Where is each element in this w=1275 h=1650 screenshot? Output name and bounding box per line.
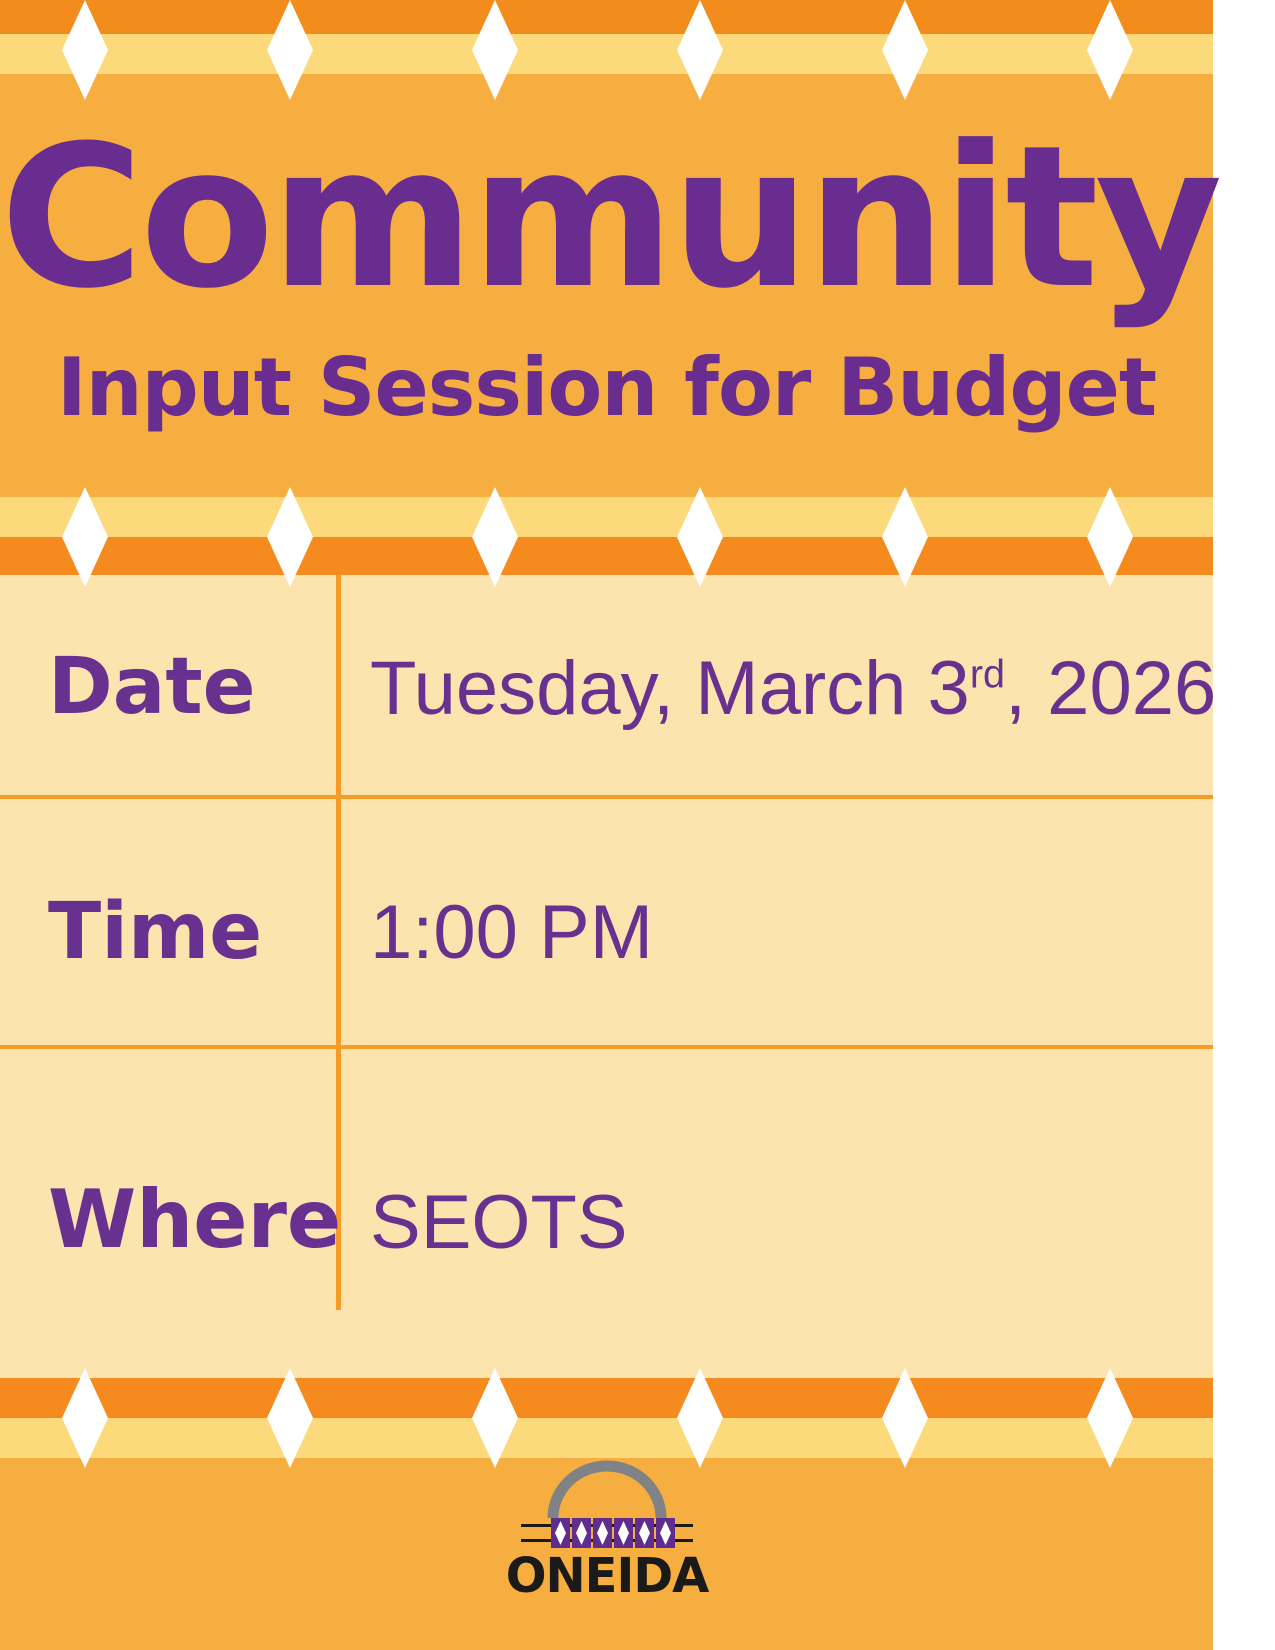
details-panel: Date Tuesday, March 3rd, 2026 Time 1:00 … (0, 575, 1213, 1378)
belt-diamond-icon (593, 1518, 612, 1548)
page-title: Community (0, 122, 1213, 314)
belt-diamond-icon (635, 1518, 654, 1548)
mid-ornament-band (0, 497, 1213, 575)
oneida-wordmark: ONEIDA (497, 1552, 717, 1600)
date-prefix: Tuesday, March 3 (370, 646, 970, 731)
belt-diamond-icon (551, 1518, 570, 1548)
table-row: Time 1:00 PM (0, 795, 1213, 1045)
table-row: Where SEOTS (0, 1045, 1213, 1378)
bottom-stripe-light (0, 1418, 1213, 1458)
top-stripe-light (0, 34, 1213, 74)
date-suffix: , 2026 (1005, 646, 1216, 731)
table-row: Date Tuesday, March 3rd, 2026 (0, 575, 1213, 795)
details-label-where: Where (0, 1180, 326, 1260)
details-label-time: Time (0, 893, 326, 971)
bottom-stripe-dark (0, 1378, 1213, 1418)
details-label-date: Date (0, 648, 326, 726)
date-ordinal-suffix: rd (970, 653, 1005, 697)
bottom-ornament-band (0, 1378, 1213, 1458)
belt-diamond-icon (614, 1518, 633, 1548)
mid-stripe-dark (0, 537, 1213, 575)
header-block: Community Input Session for Budget (0, 74, 1213, 497)
top-stripe-dark (0, 0, 1213, 34)
poster-canvas: Community Input Session for Budget Date … (0, 0, 1275, 1650)
details-value-time: 1:00 PM (370, 895, 653, 971)
longhouse-arc-icon (547, 1460, 667, 1520)
belt-squares (551, 1518, 675, 1548)
page-subtitle: Input Session for Budget (0, 346, 1213, 430)
mid-stripe-light (0, 497, 1213, 537)
details-value-where: SEOTS (370, 1185, 628, 1261)
oneida-logo: ONEIDA (497, 1460, 717, 1620)
wampum-belt-icon (521, 1518, 693, 1548)
details-table: Date Tuesday, March 3rd, 2026 Time 1:00 … (0, 575, 1213, 1378)
belt-diamond-icon (656, 1518, 675, 1548)
belt-diamond-icon (572, 1518, 591, 1548)
top-ornament-band (0, 0, 1213, 74)
details-value-date: Tuesday, March 3rd, 2026 (370, 651, 1216, 727)
